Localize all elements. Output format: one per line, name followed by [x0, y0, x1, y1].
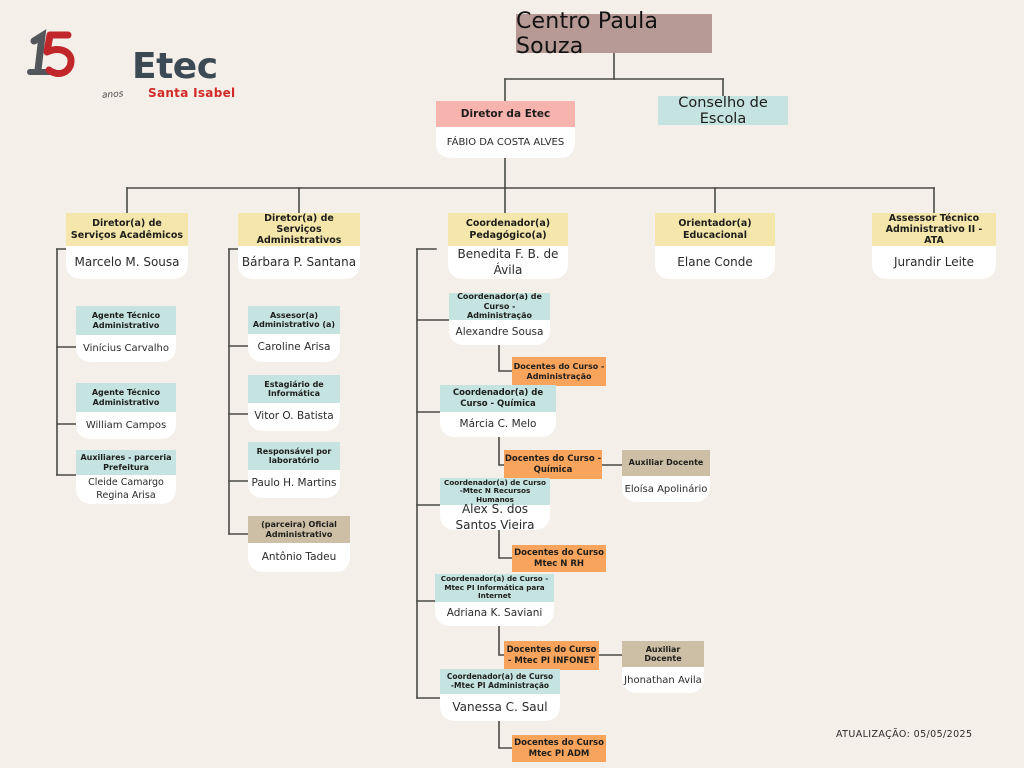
logo-unit-name: Santa Isabel: [148, 86, 235, 100]
node-name: Antônio Tadeu: [248, 543, 350, 572]
node-name: Jurandir Leite: [872, 246, 996, 279]
node-header: (parceira) Oficial Administrativo: [248, 516, 350, 543]
docentes-label: Docentes do Curso - Administração: [512, 362, 606, 381]
node-name: FÁBIO DA COSTA ALVES: [436, 127, 575, 158]
node-coordenador-pedagogico[interactable]: Coordenador(a) Pedagógico(a) Benedita F.…: [448, 213, 568, 279]
logo-anos-label: anos: [102, 89, 124, 100]
node-header: Assessor Técnico Administrativo II - ATA: [872, 213, 996, 246]
node-header: Auxiliar Docente: [622, 450, 710, 476]
node-docentes-mtec-pi-infonet[interactable]: Docentes do Curso - Mtec PI INFONET: [504, 641, 599, 670]
node-name: Alexandre Sousa: [449, 320, 550, 345]
node-header: Coordenador(a) de Curso - Mtec PI Inform…: [435, 574, 554, 602]
node-coord-curso-mtec-n-rh[interactable]: Coordenador(a) de Curso -Mtec N Recursos…: [440, 478, 550, 530]
node-name: Paulo H. Martins: [248, 470, 340, 498]
node-name: Vinícius Carvalho: [76, 335, 176, 362]
node-name: Vitor O. Batista: [248, 403, 340, 431]
node-diretor-servicos-administrativos[interactable]: Diretor(a) de Serviços Administrativos B…: [238, 213, 360, 279]
node-name: Elane Conde: [655, 246, 775, 279]
node-name: Caroline Arisa: [248, 334, 340, 362]
node-orientador-educacional[interactable]: Orientador(a) Educacional Elane Conde: [655, 213, 775, 279]
node-header: Auxiliar Docente: [622, 641, 704, 667]
node-name: Benedita F. B. de Ávila: [448, 246, 568, 279]
node-header: Coordenador(a) de Curso - Administração: [449, 293, 550, 320]
org-chart-canvas: Etec Santa Isabel anos Centro Paula Souz…: [0, 0, 1024, 768]
node-name: Vanessa C. Saul: [440, 694, 560, 721]
node-header: Estagiário de Informática: [248, 375, 340, 403]
node-name: Marcelo M. Sousa: [66, 246, 188, 279]
node-name: Jhonathan Avila: [622, 667, 704, 693]
conselho-label: Conselho de Escola: [658, 95, 788, 127]
node-assessor-administrativo[interactable]: Assesor(a) Administrativo (a) Caroline A…: [248, 306, 340, 362]
node-header: Responsável por laboratório: [248, 442, 340, 470]
node-coord-curso-mtec-pi-adm[interactable]: Coordenador(a) de Curso -Mtec PI Adminis…: [440, 669, 560, 721]
node-auxiliar-docente-infonet[interactable]: Auxiliar Docente Jhonathan Avila: [622, 641, 704, 693]
node-name: Márcia C. Melo: [440, 412, 556, 437]
node-name: Alex S. dos Santos Vieira: [440, 505, 550, 530]
node-header: Diretor da Etec: [436, 101, 575, 127]
docentes-label: Docentes do Curso Mtec PI ADM: [512, 738, 606, 758]
node-coord-curso-mtec-pi-infonet[interactable]: Coordenador(a) de Curso - Mtec PI Inform…: [435, 574, 554, 626]
logo-etec-wordmark: Etec: [132, 46, 218, 87]
update-date-label: ATUALIZAÇÃO: 05/05/2025: [836, 729, 972, 740]
node-coord-curso-quimica[interactable]: Coordenador(a) de Curso - Química Márcia…: [440, 385, 556, 437]
node-parceira-oficial-administrativo[interactable]: (parceira) Oficial Administrativo Antôni…: [248, 516, 350, 572]
logo-15-anos-icon: [20, 22, 140, 92]
node-auxiliares-parceria-prefeitura[interactable]: Auxiliares - parceria Prefeitura Cleide …: [76, 450, 176, 504]
node-responsavel-laboratorio[interactable]: Responsável por laboratório Paulo H. Mar…: [248, 442, 340, 498]
node-docentes-quimica[interactable]: Docentes do Curso - Química: [504, 450, 602, 479]
node-agente-tecnico-administrativo-2[interactable]: Agente Técnico Administrativo William Ca…: [76, 383, 176, 439]
etec-logo: Etec Santa Isabel anos: [80, 30, 300, 100]
node-estagiario-informatica[interactable]: Estagiário de Informática Vitor O. Batis…: [248, 375, 340, 431]
node-name: Eloísa Apolinário: [622, 476, 710, 502]
node-assessor-tecnico-administrativo[interactable]: Assessor Técnico Administrativo II - ATA…: [872, 213, 996, 279]
docentes-label: Docentes do Curso - Química: [504, 454, 602, 474]
node-auxiliar-docente-quimica[interactable]: Auxiliar Docente Eloísa Apolinário: [622, 450, 710, 502]
node-docentes-mtec-pi-adm[interactable]: Docentes do Curso Mtec PI ADM: [512, 735, 606, 762]
docentes-label: Docentes do Curso - Mtec PI INFONET: [504, 645, 599, 665]
node-name: William Campos: [76, 412, 176, 439]
node-header: Assesor(a) Administrativo (a): [248, 306, 340, 334]
node-name: Adriana K. Saviani: [435, 602, 554, 626]
node-name: Cleide Camargo Regina Arisa: [76, 475, 176, 504]
node-docentes-administracao[interactable]: Docentes do Curso - Administração: [512, 357, 606, 386]
node-conselho-de-escola[interactable]: Conselho de Escola: [658, 96, 788, 125]
node-header: Orientador(a) Educacional: [655, 213, 775, 246]
docentes-label: Docentes do Curso Mtec N RH: [512, 548, 606, 568]
root-label: Centro Paula Souza: [516, 9, 712, 59]
node-header: Agente Técnico Administrativo: [76, 383, 176, 412]
node-header: Coordenador(a) de Curso - Química: [440, 385, 556, 412]
node-header: Agente Técnico Administrativo: [76, 306, 176, 335]
node-header: Diretor(a) de Serviços Acadêmicos: [66, 213, 188, 246]
node-agente-tecnico-administrativo-1[interactable]: Agente Técnico Administrativo Vinícius C…: [76, 306, 176, 362]
node-header: Coordenador(a) de Curso -Mtec PI Adminis…: [440, 669, 560, 694]
root-node-centro-paula-souza[interactable]: Centro Paula Souza: [516, 14, 712, 53]
node-header: Auxiliares - parceria Prefeitura: [76, 450, 176, 475]
node-docentes-mtec-n-rh[interactable]: Docentes do Curso Mtec N RH: [512, 545, 606, 572]
node-diretor-da-etec[interactable]: Diretor da Etec FÁBIO DA COSTA ALVES: [436, 101, 575, 158]
node-name: Bárbara P. Santana: [238, 246, 360, 279]
node-diretor-servicos-academicos[interactable]: Diretor(a) de Serviços Acadêmicos Marcel…: [66, 213, 188, 279]
node-header: Diretor(a) de Serviços Administrativos: [238, 213, 360, 246]
node-coord-curso-administracao[interactable]: Coordenador(a) de Curso - Administração …: [449, 293, 550, 345]
node-header: Coordenador(a) Pedagógico(a): [448, 213, 568, 246]
